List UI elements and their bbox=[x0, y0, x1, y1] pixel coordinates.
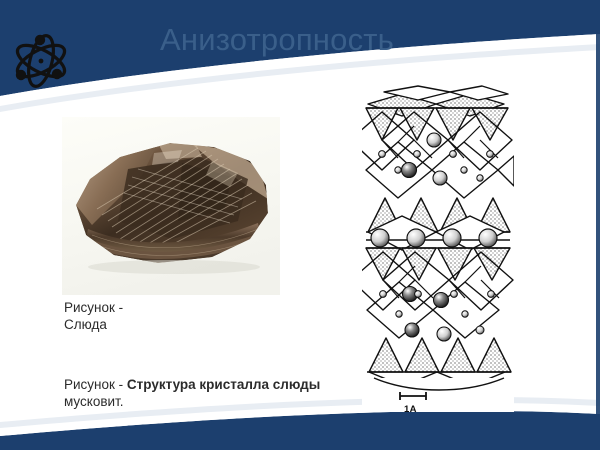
atom-icon bbox=[10, 30, 72, 92]
scalebar-label: 1A bbox=[404, 404, 417, 415]
mica-specimen-photo bbox=[62, 117, 280, 295]
caption-structure: Рисунок - Структура кристалла слюды муск… bbox=[64, 376, 364, 410]
caption-mica: Рисунок - Слюда bbox=[64, 299, 304, 333]
caption-mica-line1: Рисунок - bbox=[64, 299, 304, 316]
caption-structure-prefix: Рисунок - bbox=[64, 377, 127, 392]
presentation-slide: Анизотропность bbox=[0, 0, 600, 450]
caption-mica-line2: Слюда bbox=[64, 316, 304, 333]
caption-structure-bold: Структура кристалла слюды bbox=[127, 377, 320, 392]
page-title: Анизотропность bbox=[160, 22, 560, 58]
caption-structure-suffix: мусковит. bbox=[64, 394, 124, 409]
crystal-lattice-diagram bbox=[362, 82, 514, 412]
